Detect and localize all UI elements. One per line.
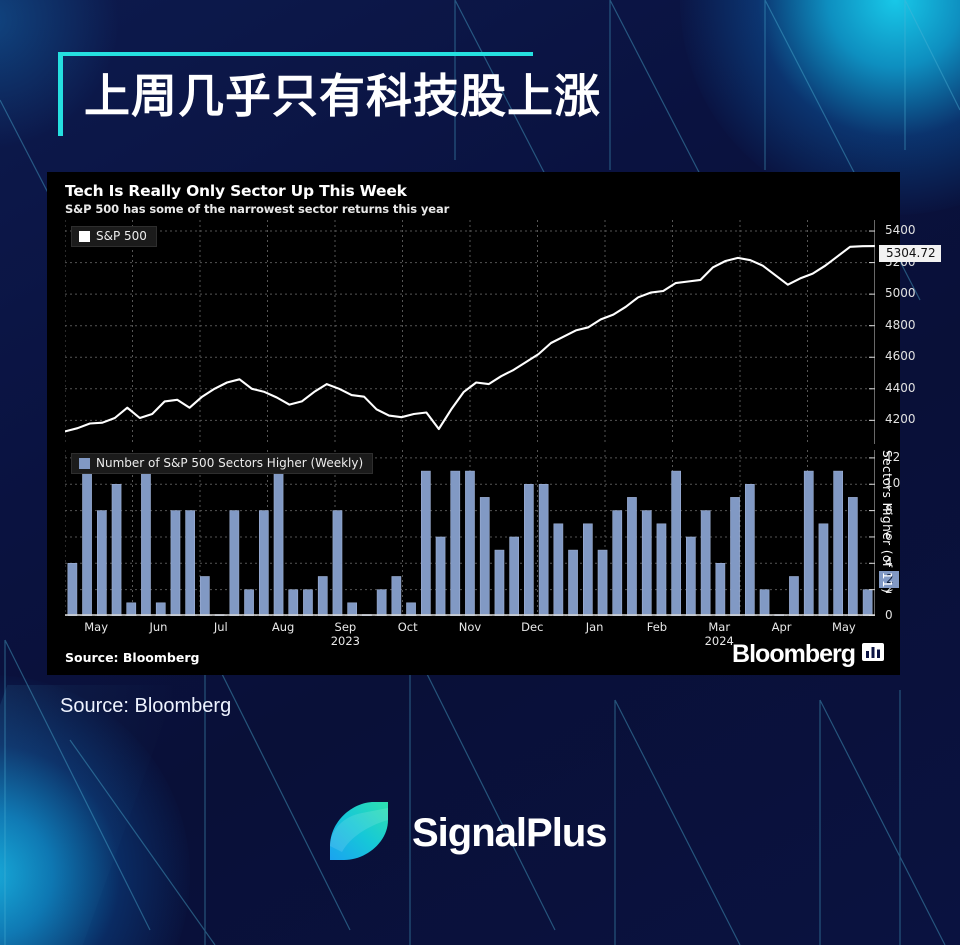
chart-title: Tech Is Really Only Sector Up This Week [65, 182, 407, 200]
bar [760, 590, 769, 616]
bar [230, 511, 239, 616]
signalplus-mark-icon [322, 800, 394, 867]
x-tick-label: Oct [382, 620, 434, 634]
bar [156, 603, 165, 616]
bar [672, 471, 681, 616]
legend-swatch-icon [79, 231, 90, 242]
bar [333, 511, 342, 616]
bar [510, 537, 519, 616]
bar [701, 511, 710, 616]
bar [495, 550, 504, 616]
x-tick-label: Sep2023 [319, 620, 371, 648]
x-tick-label: Jan [569, 620, 621, 634]
bloomberg-chart-panel: Tech Is Really Only Sector Up This Week … [47, 172, 900, 675]
legend-sectors-label: Number of S&P 500 Sectors Higher (Weekly… [96, 456, 363, 470]
bar [186, 511, 195, 616]
legend-swatch-icon [79, 458, 90, 469]
signalplus-logo: SignalPlus [322, 800, 607, 867]
bar [716, 563, 725, 616]
bar [657, 524, 666, 616]
bar [789, 577, 798, 617]
bar [569, 550, 578, 616]
y-tick-label: 4200 [885, 412, 916, 426]
bar [274, 471, 283, 616]
bar [804, 471, 813, 616]
bar [377, 590, 386, 616]
x-tick-label: Dec [506, 620, 558, 634]
bar [141, 471, 150, 616]
bar [259, 511, 268, 616]
bar [392, 577, 401, 617]
bar [598, 550, 607, 616]
poster-root: 上周几乎只有科技股上涨 Tech Is Really Only Sector U… [0, 0, 960, 945]
signalplus-wordmark: SignalPlus [412, 811, 607, 856]
bar [583, 524, 592, 616]
bar [83, 471, 92, 616]
panel-source: Source: Bloomberg [65, 650, 199, 665]
x-tick-label: May [818, 620, 870, 634]
legend-sp500-label: S&P 500 [96, 229, 147, 243]
y-tick-label: 4400 [885, 381, 916, 395]
bar [465, 471, 474, 616]
bar [436, 537, 445, 616]
bar [127, 603, 136, 616]
bloomberg-chart-icon [862, 641, 884, 668]
page-title: 上周几乎只有科技股上涨 [84, 60, 704, 126]
bar [819, 524, 828, 616]
bar [863, 590, 872, 616]
bar [303, 590, 312, 616]
bar [97, 511, 106, 616]
last-price-tag: 5304.72 [879, 245, 941, 262]
bar [480, 497, 489, 616]
bar [848, 497, 857, 616]
y-tick-label: 5400 [885, 223, 916, 237]
bar [731, 497, 740, 616]
y-tick-label: 5000 [885, 286, 916, 300]
bloomberg-logo: Bloomberg [732, 640, 884, 669]
bar [200, 577, 209, 617]
bar [539, 484, 548, 616]
y-tick-label: 4600 [885, 349, 916, 363]
x-tick-label: Aug [257, 620, 309, 634]
bar [745, 484, 754, 616]
bar [348, 603, 357, 616]
sectors-higher-bar-plot [65, 450, 875, 616]
bar [642, 511, 651, 616]
bar [613, 511, 622, 616]
bar [627, 497, 636, 616]
x-tick-label: Apr [756, 620, 808, 634]
chart-subtitle: S&P 500 has some of the narrowest sector… [65, 202, 449, 216]
y-tick-label: 0 [885, 608, 893, 622]
x-tick-label: Jul [195, 620, 247, 634]
bar [318, 577, 327, 617]
sp500-line-plot [65, 220, 875, 444]
x-tick-label: Feb [631, 620, 683, 634]
bar [421, 471, 430, 616]
bar [245, 590, 254, 616]
bar [686, 537, 695, 616]
bloomberg-wordmark: Bloomberg [732, 640, 855, 669]
bar [171, 511, 180, 616]
bar [834, 471, 843, 616]
footer-source: Source: Bloomberg [60, 695, 231, 718]
x-tick-label: Nov [444, 620, 496, 634]
sectors-axis-title: Sectors Higher (of 11) [880, 450, 894, 593]
bar [289, 590, 298, 616]
bar [68, 563, 77, 616]
legend-sectors-higher[interactable]: Number of S&P 500 Sectors Higher (Weekly… [71, 453, 373, 474]
x-tick-label: Jun [132, 620, 184, 634]
bar [407, 603, 416, 616]
bar [112, 484, 121, 616]
y-tick-label: 4800 [885, 318, 916, 332]
x-tick-label: May [70, 620, 122, 634]
legend-sp500[interactable]: S&P 500 [71, 226, 157, 247]
bar [451, 471, 460, 616]
bar [554, 524, 563, 616]
bar [524, 484, 533, 616]
